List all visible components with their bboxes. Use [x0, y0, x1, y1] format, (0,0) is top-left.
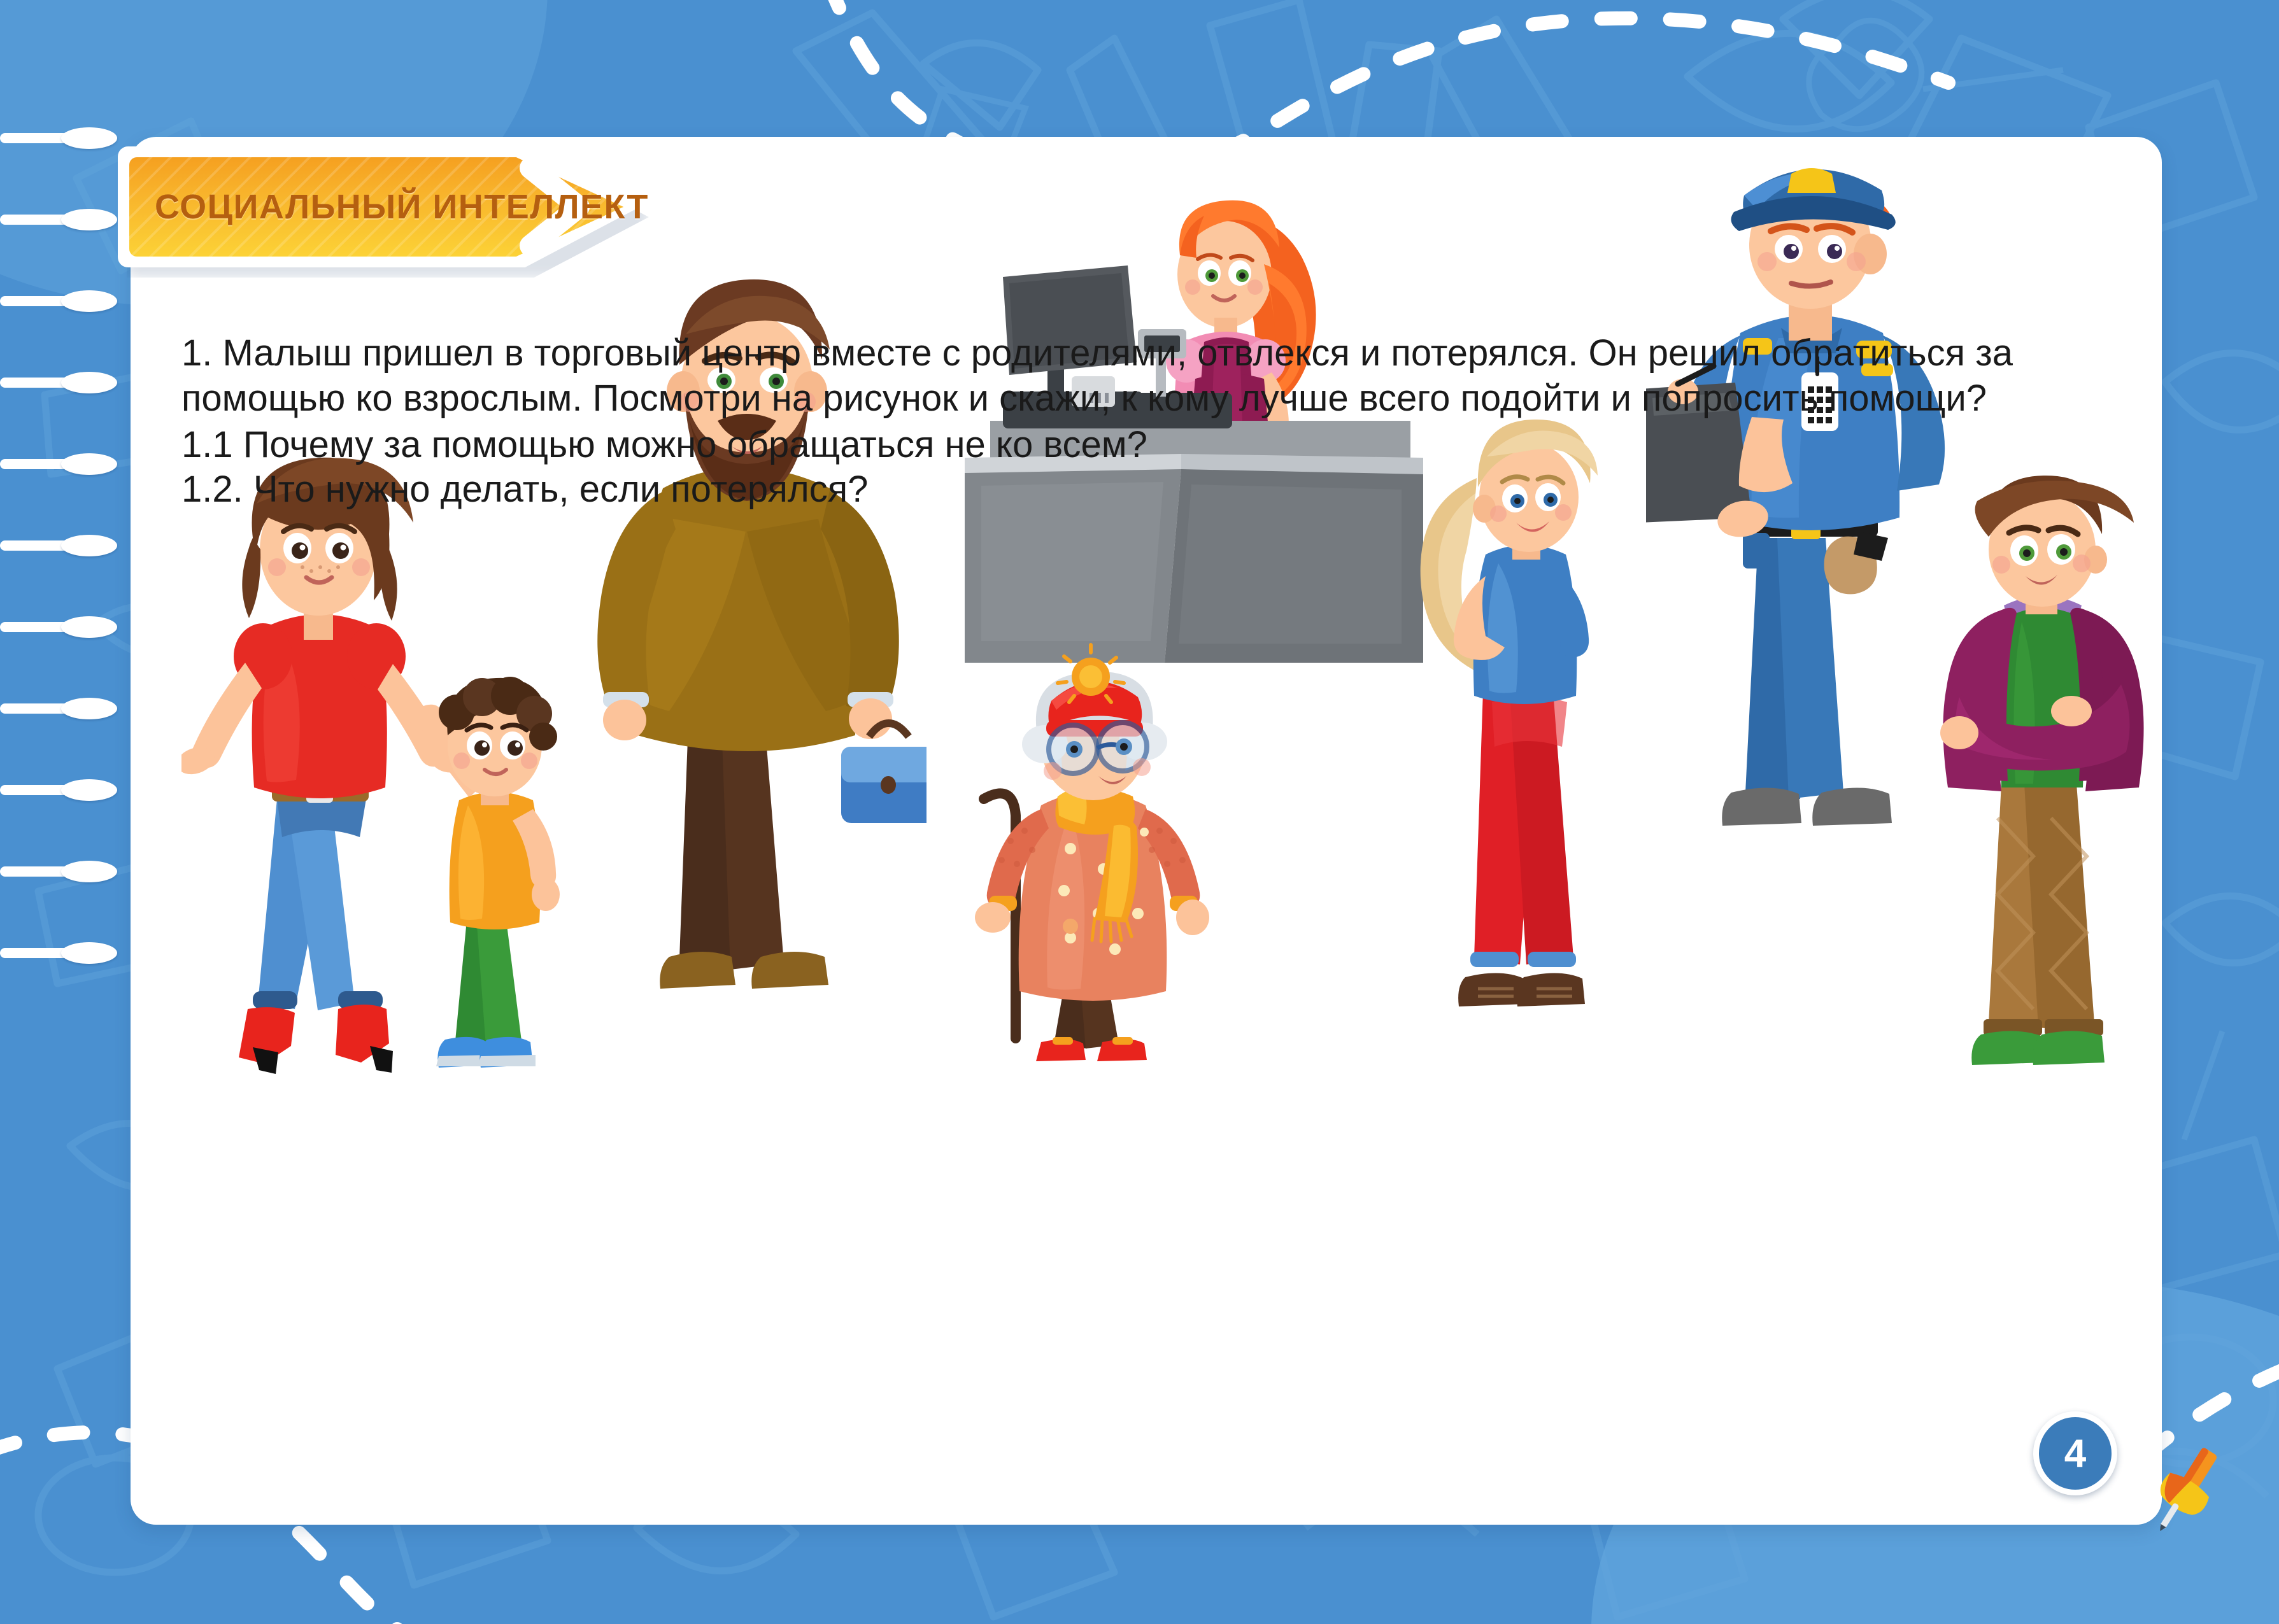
- figure-grandmother: [939, 640, 1245, 1073]
- question-1-2: 1.2. Что нужно делать, если потерялся?: [181, 467, 2117, 512]
- worksheet-card: 1. Малыш пришел в торговый центр вместе …: [131, 137, 2162, 1525]
- page-number: 4: [2064, 1431, 2086, 1476]
- section-banner: СОЦИАЛЬНЫЙ ИНТЕЛЛЕКТ: [118, 146, 640, 267]
- pushpin-icon: [2139, 1441, 2234, 1536]
- banner-label: СОЦИАЛЬНЫЙ ИНТЕЛЛЕКТ: [155, 187, 649, 227]
- figure-blonde-woman: [1417, 417, 1672, 1079]
- task-text-block: 1. Малыш пришел в торговый центр вместе …: [181, 331, 2117, 512]
- figure-little-boy: [398, 665, 589, 1098]
- figure-teenager: [1920, 474, 2187, 1105]
- spiral-binding: [0, 127, 115, 955]
- question-1-1: 1.1 Почему за помощью можно обращаться н…: [181, 423, 2117, 468]
- question-main: 1. Малыш пришел в торговый центр вместе …: [181, 331, 2117, 421]
- page-number-badge: 4: [2033, 1411, 2117, 1495]
